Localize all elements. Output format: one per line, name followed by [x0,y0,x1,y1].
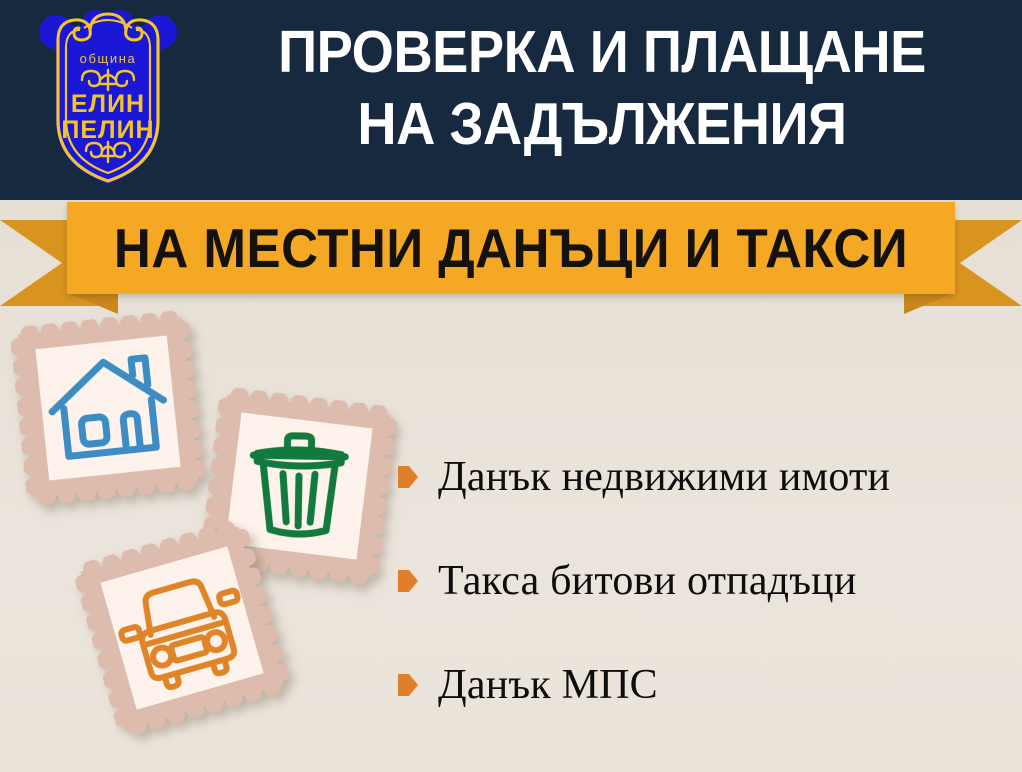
list-item[interactable]: Такса битови отпадъци [398,529,1008,633]
header-band: община ЕЛИН ПЕЛИН [0,0,1022,200]
crest-name-line1: ЕЛИН [71,90,145,118]
page-title: ПРОВЕРКА И ПЛАЩАНЕ НА ЗАДЪЛЖЕНИЯ [225,16,979,160]
tax-type-list: Данък недвижими имоти Такса битови отпад… [398,425,1008,737]
ribbon-banner: НА МЕСТНИ ДАНЪЦИ И ТАКСИ [67,202,955,294]
page-title-line-1: ПРОВЕРКА И ПЛАЩАНЕ [225,16,979,88]
list-item-label: Данък недвижими имоти [438,453,890,501]
crest-name-line2: ПЕЛИН [61,116,154,144]
ribbon-label: НА МЕСТНИ ДАНЪЦИ И ТАКСИ [98,202,924,294]
list-item[interactable]: Данък МПС [398,633,1008,737]
poster-root: община ЕЛИН ПЕЛИН [0,0,1022,772]
crest-community-label: община [80,51,137,66]
header-inner: община ЕЛИН ПЕЛИН [0,0,1022,200]
stamp-real-estate [9,309,207,507]
arrow-bullet-icon [398,570,418,592]
arrow-bullet-icon [398,674,418,696]
municipality-crest-logo: община ЕЛИН ПЕЛИН [34,8,182,188]
arrow-bullet-icon [398,466,418,488]
subtitle-ribbon: НА МЕСТНИ ДАНЪЦИ И ТАКСИ [0,196,1022,308]
list-item-label: Такса битови отпадъци [438,557,857,605]
list-item[interactable]: Данък недвижими имоти [398,425,1008,529]
page-title-line-2: НА ЗАДЪЛЖЕНИЯ [225,88,979,160]
list-item-label: Данък МПС [438,661,658,709]
